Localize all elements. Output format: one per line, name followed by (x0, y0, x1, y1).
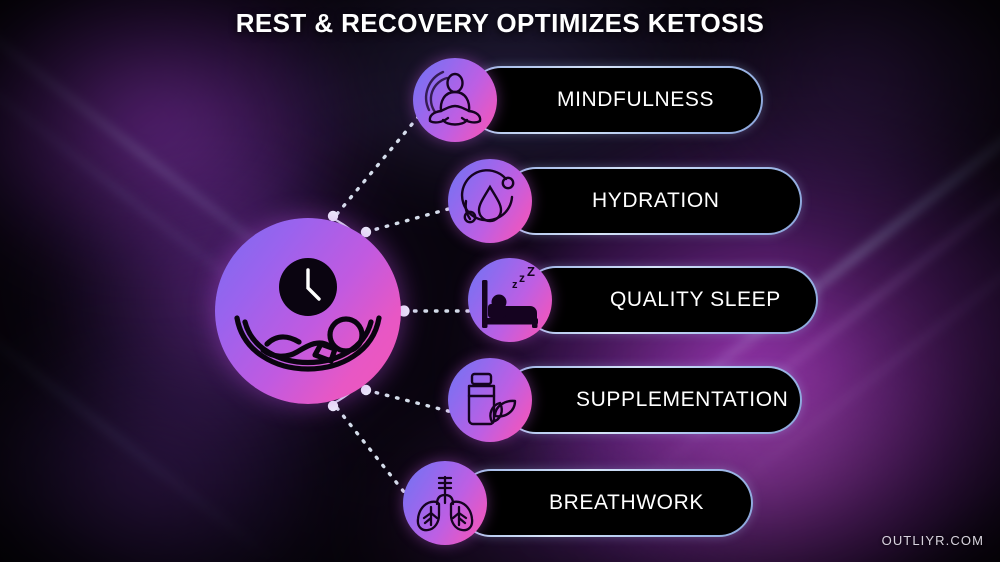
lungs-icon (403, 461, 487, 545)
meditation-lotus-icon (413, 58, 497, 142)
item-label: HYDRATION (504, 189, 720, 213)
item-pill-mindfulness[interactable]: MINDFULNESS (467, 66, 763, 134)
item-label: SUPPLEMENTATION (504, 388, 788, 412)
item-pill-breathwork[interactable]: BREATHWORK (457, 469, 753, 537)
supplement-bottle-leaves-icon (448, 358, 532, 442)
item-row-mindfulness[interactable]: MINDFULNESS (413, 58, 763, 142)
item-row-hydration[interactable]: HYDRATION (448, 159, 802, 243)
item-label: QUALITY SLEEP (524, 288, 781, 312)
item-row-breathwork[interactable]: BREATHWORK (403, 461, 753, 545)
hammock-rest-clock-icon (215, 218, 401, 404)
item-pill-quality-sleep[interactable]: QUALITY SLEEP (522, 266, 818, 334)
item-pill-hydration[interactable]: HYDRATION (502, 167, 802, 235)
water-droplet-orbit-icon (448, 159, 532, 243)
watermark: OUTLIYR.COM (882, 533, 984, 548)
infographic-canvas: REST & RECOVERY OPTIMIZES KETOSIS (0, 0, 1000, 562)
item-pill-supplementation[interactable]: SUPPLEMENTATION (502, 366, 802, 434)
svg-text:z: z (512, 279, 518, 291)
item-row-supplementation[interactable]: SUPPLEMENTATION (448, 358, 802, 442)
item-row-quality-sleep[interactable]: z z Z QUALITY SLEEP (468, 258, 818, 342)
item-label: MINDFULNESS (469, 88, 714, 112)
svg-text:z: z (519, 271, 525, 285)
bed-sleeping-zzz-icon: z z Z (468, 258, 552, 342)
svg-text:Z: Z (527, 264, 535, 279)
hub-circle (215, 218, 401, 404)
item-label: BREATHWORK (459, 491, 704, 515)
